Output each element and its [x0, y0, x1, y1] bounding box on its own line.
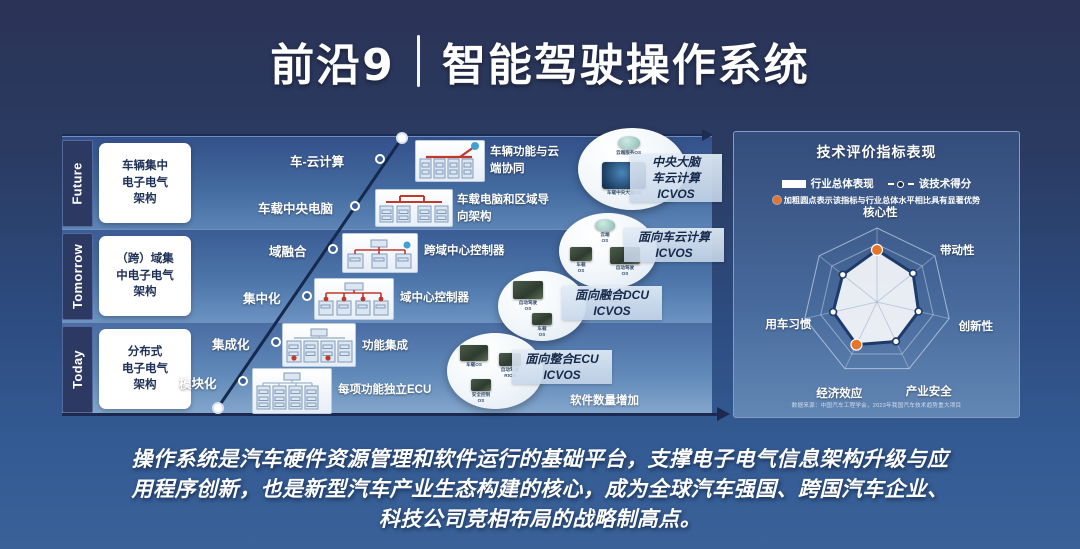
architecture-roadmap: 软件数量增加 Future Tomorrow Today 车辆集中电子电气架构 … — [62, 128, 712, 420]
stage-label-2: 域融合 — [269, 241, 307, 260]
os-chip-cloud: 云端 OS — [595, 219, 615, 243]
stage-label-1: 车载中央电脑 — [258, 198, 333, 217]
stage-label-0: 车-云计算 — [290, 151, 344, 170]
radar-source-note: 数据来源：中国汽车工程学会，2023年我国汽车技术趋势重大项目 — [734, 401, 1019, 409]
stage-dot-4 — [271, 337, 281, 347]
radar-panel-title: 技术评价指标表现 — [734, 142, 1019, 162]
icvos-plate-fused-dcu: 面向融合DCUICVOS — [562, 286, 662, 320]
radar-axis-label-0: 核心性 — [863, 204, 898, 220]
os-chip-vehicle-os: 车载OS — [460, 345, 488, 368]
software-growth-arrow — [62, 413, 720, 416]
caption-line-2: 用程序创新，也是新型汽车产业生态构建的核心，成为全球汽车强国、跨国汽车企业、 — [70, 475, 1010, 505]
stage-desc-5: 每项功能独立ECU — [338, 382, 431, 399]
tech-evaluation-panel: 技术评价指标表现 行业总体表现 该技术得分 加粗圆点表示该指标与行业总体水平相比… — [733, 131, 1020, 418]
schematic-thumb-4 — [282, 323, 356, 367]
schematic-thumb-3 — [314, 278, 394, 320]
legend-label-industry: 行业总体表现 — [811, 176, 874, 191]
os-chip-autonomous-driving-dcu: 自动驾驶 OS — [513, 281, 543, 311]
stage-label-3: 集中化 — [243, 288, 281, 307]
schematic-thumb-0 — [415, 140, 485, 182]
radar-axis-label-4: 经济效应 — [816, 385, 862, 401]
schematic-thumb-5 — [252, 368, 332, 414]
legend-label-tech-score: 该技术得分 — [919, 176, 972, 191]
stage-desc-1: 车载电脑和区域导向架构 — [457, 192, 549, 227]
stage-dot-3 — [302, 291, 312, 301]
stage-desc-2: 跨域中心控制器 — [424, 243, 505, 260]
legend-item-industry: 行业总体表现 — [782, 176, 874, 191]
caption-line-1: 操作系统是汽车硬件资源管理和软件运行的基础平台，支撑电子电气信息架构升级与应 — [70, 445, 1010, 475]
stage-origin-dot — [212, 402, 224, 414]
caption-line-3: 科技公司竞相布局的战略制高点。 — [70, 505, 1010, 535]
icvos-plate-vehicle-cloud: 面向车云计算ICVOS — [624, 228, 724, 262]
summary-caption: 操作系统是汽车硬件资源管理和软件运行的基础平台，支撑电子电气信息架构升级与应 用… — [70, 445, 1010, 534]
stage-label-5: 模块化 — [179, 373, 217, 392]
os-chip-vehicle: 车载 OS — [570, 247, 592, 273]
stage-dot-0 — [375, 154, 385, 164]
icvos-plate-central-brain: 中央大脑车云计算ICVOS — [630, 154, 722, 202]
page-title-left: 前沿9 — [270, 29, 395, 93]
era-tab-today: Today — [62, 326, 93, 413]
highlight-dot-icon — [773, 196, 781, 204]
os-chip-vehicle-dcu: 车载 OS — [532, 313, 552, 337]
icvos-plate-integrated-ecu: 面向整合ECUICVOS — [512, 350, 612, 384]
radar-legend: 行业总体表现 该技术得分 — [734, 176, 1019, 191]
radar-axis-label-3: 产业安全 — [906, 383, 952, 399]
schematic-thumb-1 — [375, 189, 453, 227]
arch-box-today: 分布式电子电气架构 — [99, 329, 191, 409]
os-chip-cloud-service: 云端服务OS — [616, 136, 641, 156]
stage-desc-4: 功能集成 — [362, 338, 408, 355]
radar-axis-label-1: 带动性 — [940, 242, 975, 258]
os-chip-safety-control-os: 安全控制 OS — [471, 379, 491, 403]
stage-dot-1 — [350, 201, 360, 211]
legend-swatch-line-icon — [888, 183, 914, 185]
stage-dot-2 — [328, 244, 338, 254]
radar-chart — [752, 210, 1002, 400]
page-header: 前沿9 智能驾驶操作系统 — [0, 18, 1080, 104]
stage-label-4: 集成化 — [212, 334, 250, 353]
era-label-tomorrow: Tomorrow — [70, 244, 85, 309]
stage-end-dot — [396, 132, 408, 144]
stage-desc-3: 域中心控制器 — [400, 290, 469, 307]
stage-desc-0: 车辆功能与云端协同 — [490, 144, 559, 179]
stage-dot-5 — [238, 376, 248, 386]
legend-swatch-bar-icon — [782, 180, 806, 188]
arch-box-future: 车辆集中电子电气架构 — [99, 143, 191, 223]
software-growth-label: 软件数量增加 — [570, 392, 639, 408]
legend-item-tech-score: 该技术得分 — [888, 176, 972, 191]
radar-axis-label-5: 用车习惯 — [765, 316, 811, 332]
era-tab-future: Future — [62, 140, 93, 227]
arch-box-tomorrow: （跨）域集中电子电气架构 — [99, 236, 191, 316]
page-title-right: 智能驾驶操作系统 — [442, 29, 810, 93]
radar-axis-label-2: 创新性 — [959, 318, 994, 334]
era-tab-tomorrow: Tomorrow — [62, 233, 93, 320]
era-label-today: Today — [70, 350, 85, 389]
schematic-thumb-2 — [342, 233, 418, 273]
era-label-future: Future — [70, 162, 85, 204]
title-divider — [417, 35, 420, 87]
